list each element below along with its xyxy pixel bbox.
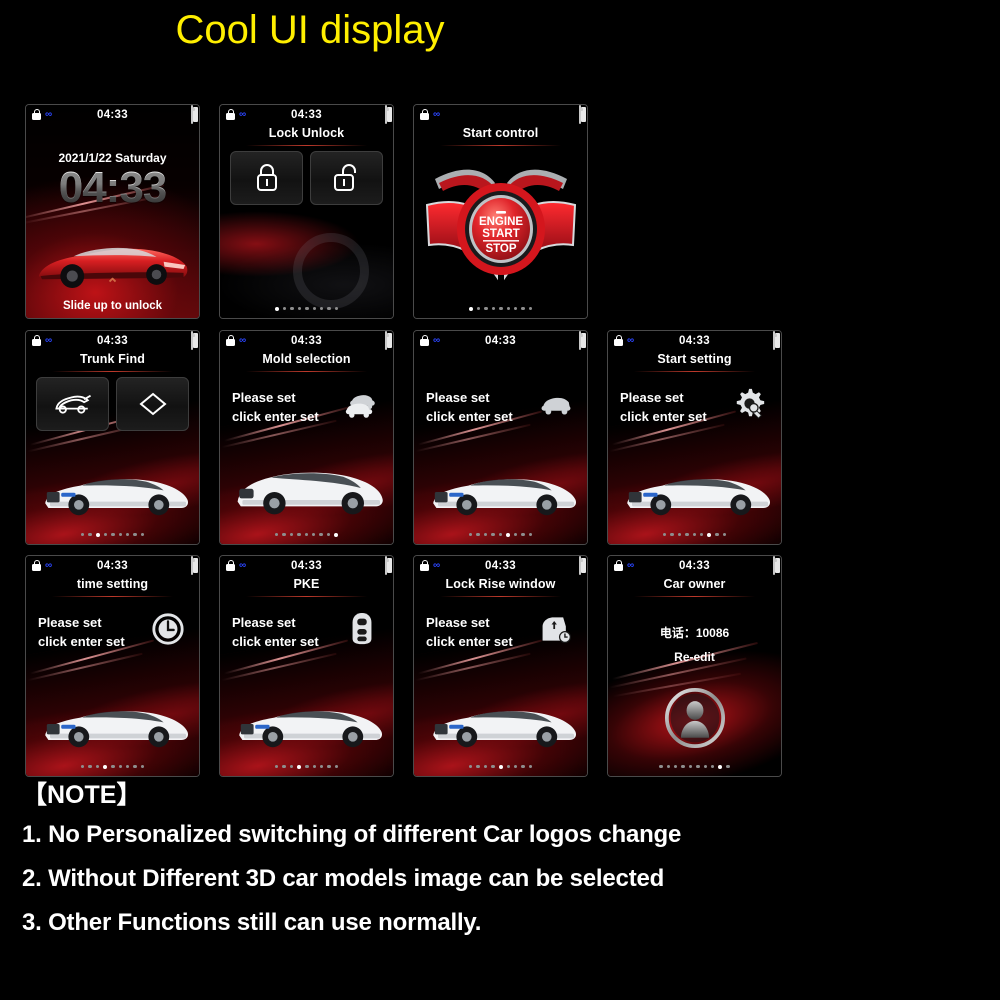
instruction-text: Please set click enter set: [38, 614, 125, 652]
engine-start-area[interactable]: ENGINE START STOP: [414, 149, 587, 299]
note-section: 【NOTE】 1. No Personalized switching of d…: [22, 775, 990, 953]
instruction-line-2: click enter set: [620, 408, 707, 427]
svg-text:ENGINE: ENGINE: [478, 216, 522, 228]
infinity-icon: ∞: [433, 110, 439, 120]
white-sedan-artwork: [34, 686, 194, 754]
trunk-button[interactable]: [36, 377, 109, 431]
car-door-window-up-icon[interactable]: [539, 612, 573, 646]
card-row-3: ∞ 04:33 time setting Please set click en…: [25, 555, 782, 777]
screen-title: Car owner: [608, 577, 781, 591]
instruction-text: Please set click enter set: [426, 389, 513, 427]
title-underline: [440, 145, 561, 146]
screen-title: time setting: [26, 577, 199, 591]
status-right: [385, 106, 387, 124]
title-underline: [246, 371, 367, 372]
card-lock-rise-window[interactable]: ∞ 04:33 Lock Rise window Please set clic…: [413, 555, 588, 777]
status-right: [579, 557, 581, 575]
status-bar: ∞ 04:33: [608, 331, 781, 350]
white-sedan-artwork: [34, 454, 194, 522]
status-time: 04:33: [26, 560, 199, 572]
instruction-line-2: click enter set: [426, 408, 513, 427]
status-right: [385, 557, 387, 575]
pagination-dots[interactable]: [220, 307, 393, 311]
page-title: Cool UI display: [0, 8, 620, 53]
title-underline: [634, 596, 755, 597]
card-start-control[interactable]: ∞ Start control: [413, 104, 588, 319]
status-right: [191, 557, 193, 575]
re-edit-button[interactable]: Re-edit: [608, 650, 781, 664]
status-time: 04:33: [26, 109, 199, 121]
status-right: [579, 106, 581, 124]
battery-icon: [385, 556, 387, 575]
status-time: 04:33: [608, 335, 781, 347]
poster-root: Cool UI display: [0, 0, 1000, 1000]
status-time: 04:33: [414, 560, 587, 572]
gear-wrench-icon[interactable]: [733, 387, 767, 421]
card-background: [414, 331, 587, 544]
car-trunk-open-icon: [52, 392, 94, 416]
chevron-up-icon: ⌃: [26, 277, 199, 292]
screen-title: Lock Unlock: [220, 126, 393, 140]
status-time: 04:33: [220, 560, 393, 572]
two-cars-icon[interactable]: [345, 387, 379, 421]
card-lock-unlock[interactable]: ∞ 04:33 Lock Unlock: [219, 104, 394, 319]
status-bar: ∞ 04:33: [414, 331, 587, 350]
screen-title: Lock Rise window: [414, 577, 587, 591]
status-bar: ∞ 04:33: [26, 105, 199, 124]
card-start-setting[interactable]: ∞ 04:33 Start setting Please set click e…: [607, 330, 782, 545]
status-time: 04:33: [26, 335, 199, 347]
screen-title: PKE: [220, 577, 393, 591]
card-pke[interactable]: ∞ 04:33 PKE Please set click enter set: [219, 555, 394, 777]
unlock-button[interactable]: [310, 151, 383, 205]
lock-button[interactable]: [230, 151, 303, 205]
padlock-closed-icon: [254, 163, 280, 193]
status-bar: ∞ 04:33: [220, 105, 393, 124]
title-underline: [634, 371, 755, 372]
instruction-line-1: Please set: [38, 614, 125, 633]
clock-icon[interactable]: [151, 612, 185, 646]
instruction-line-2: click enter set: [232, 408, 319, 427]
instruction-line-1: Please set: [232, 614, 319, 633]
instruction-line-2: click enter set: [426, 633, 513, 652]
screen-title: Start control: [414, 126, 587, 140]
status-right: [385, 332, 387, 350]
card-row-1: ∞ 04:33 2021/1/22 Saturday 04:33 ⌃ Slide…: [25, 104, 588, 319]
note-heading: 【NOTE】: [22, 775, 990, 811]
status-time: 04:33: [608, 560, 781, 572]
battery-icon: [579, 331, 581, 350]
owner-phone: 电话：10086: [608, 624, 781, 641]
battery-icon: [773, 331, 775, 350]
note-line-2: 2. Without Different 3D car models image…: [22, 865, 990, 893]
screen-title: Start setting: [608, 352, 781, 366]
status-right: [579, 332, 581, 350]
note-line-1: 1. No Personalized switching of differen…: [22, 821, 990, 849]
title-underline: [246, 145, 367, 146]
status-left: ∞: [420, 109, 439, 120]
status-right: [773, 332, 775, 350]
note-line-3: 3. Other Functions still can use normall…: [22, 909, 990, 937]
battery-icon: [579, 105, 581, 124]
screen-title: Trunk Find: [26, 352, 199, 366]
slide-to-unlock-label[interactable]: Slide up to unlock: [26, 300, 199, 312]
title-underline: [246, 596, 367, 597]
white-sedan-artwork: [422, 454, 582, 522]
svg-text:START: START: [482, 228, 519, 240]
card-car-owner[interactable]: ∞ 04:33 Car owner 电话：10086 Re-edit: [607, 555, 782, 777]
instruction-text: Please set click enter set: [620, 389, 707, 427]
lockscreen-clock: 04:33: [26, 163, 199, 213]
white-sedan-artwork: [422, 686, 582, 754]
trunk-find-buttons: [36, 377, 189, 431]
lock-unlock-buttons: [230, 151, 383, 205]
status-time: 04:33: [220, 109, 393, 121]
status-bar: ∞ 04:33: [220, 331, 393, 350]
status-bar: ∞ 04:33: [220, 556, 393, 575]
card-time-setting[interactable]: ∞ 04:33 time setting Please set click en…: [25, 555, 200, 777]
instruction-text: Please set click enter set: [232, 389, 319, 427]
status-bar: ∞ 04:33: [414, 556, 587, 575]
card-trunk-find[interactable]: ∞ 04:33 Trunk Find: [25, 330, 200, 545]
pagination-dots[interactable]: [26, 533, 199, 537]
instruction-line-1: Please set: [426, 389, 513, 408]
battery-icon: [385, 331, 387, 350]
status-right: [191, 106, 193, 124]
screen-title: Mold selection: [220, 352, 393, 366]
battery-icon: [579, 556, 581, 575]
instruction-text: Please set click enter set: [426, 614, 513, 652]
white-sedan-artwork: [616, 454, 776, 522]
pagination-dots[interactable]: [220, 765, 393, 769]
pagination-dots[interactable]: [414, 533, 587, 537]
instruction-text: Please set click enter set: [232, 614, 319, 652]
title-underline: [440, 596, 561, 597]
status-bar: ∞ 04:33: [26, 556, 199, 575]
battery-icon: [191, 105, 193, 124]
instruction-line-1: Please set: [232, 389, 319, 408]
card-lock-screen[interactable]: ∞ 04:33 2021/1/22 Saturday 04:33 ⌃ Slide…: [25, 104, 200, 319]
instruction-line-1: Please set: [620, 389, 707, 408]
title-underline: [52, 596, 173, 597]
pagination-dots[interactable]: [608, 765, 781, 769]
white-suv-artwork: [228, 454, 388, 522]
battery-icon: [385, 105, 387, 124]
status-bar: ∞: [414, 105, 587, 124]
status-time: 04:33: [414, 335, 587, 347]
pagination-dots[interactable]: [414, 765, 587, 769]
status-time: 04:33: [220, 335, 393, 347]
status-bar: ∞ 04:33: [608, 556, 781, 575]
engine-start-stop-button[interactable]: ENGINE START STOP: [417, 149, 585, 299]
instruction-line-1: Please set: [426, 614, 513, 633]
find-button[interactable]: [116, 377, 189, 431]
lock-icon: [420, 109, 429, 120]
battery-icon: [773, 556, 775, 575]
key-fob-icon[interactable]: [345, 612, 379, 646]
card-row-2: ∞ 04:33 Trunk Find: [25, 330, 782, 545]
card-model-image[interactable]: ∞ 04:33 Please set click enter set: [413, 330, 588, 545]
instruction-line-2: click enter set: [38, 633, 125, 652]
title-underline: [52, 371, 173, 372]
battery-icon: [191, 331, 193, 350]
pagination-dots[interactable]: [608, 533, 781, 537]
pagination-dots[interactable]: [414, 307, 587, 311]
car-side-icon[interactable]: [539, 387, 573, 421]
instruction-line-2: click enter set: [232, 633, 319, 652]
white-sedan-artwork: [228, 686, 388, 754]
padlock-open-icon: [332, 163, 362, 193]
card-mold-selection[interactable]: ∞ 04:33 Mold selection Please set click …: [219, 330, 394, 545]
battery-icon: [191, 556, 193, 575]
status-right: [773, 557, 775, 575]
user-avatar-icon[interactable]: [665, 688, 725, 748]
diamond-icon: [138, 391, 168, 417]
svg-text:STOP: STOP: [485, 243, 516, 255]
status-bar: ∞ 04:33: [26, 331, 199, 350]
pagination-dots[interactable]: [220, 533, 393, 537]
status-right: [191, 332, 193, 350]
pagination-dots[interactable]: [26, 765, 199, 769]
